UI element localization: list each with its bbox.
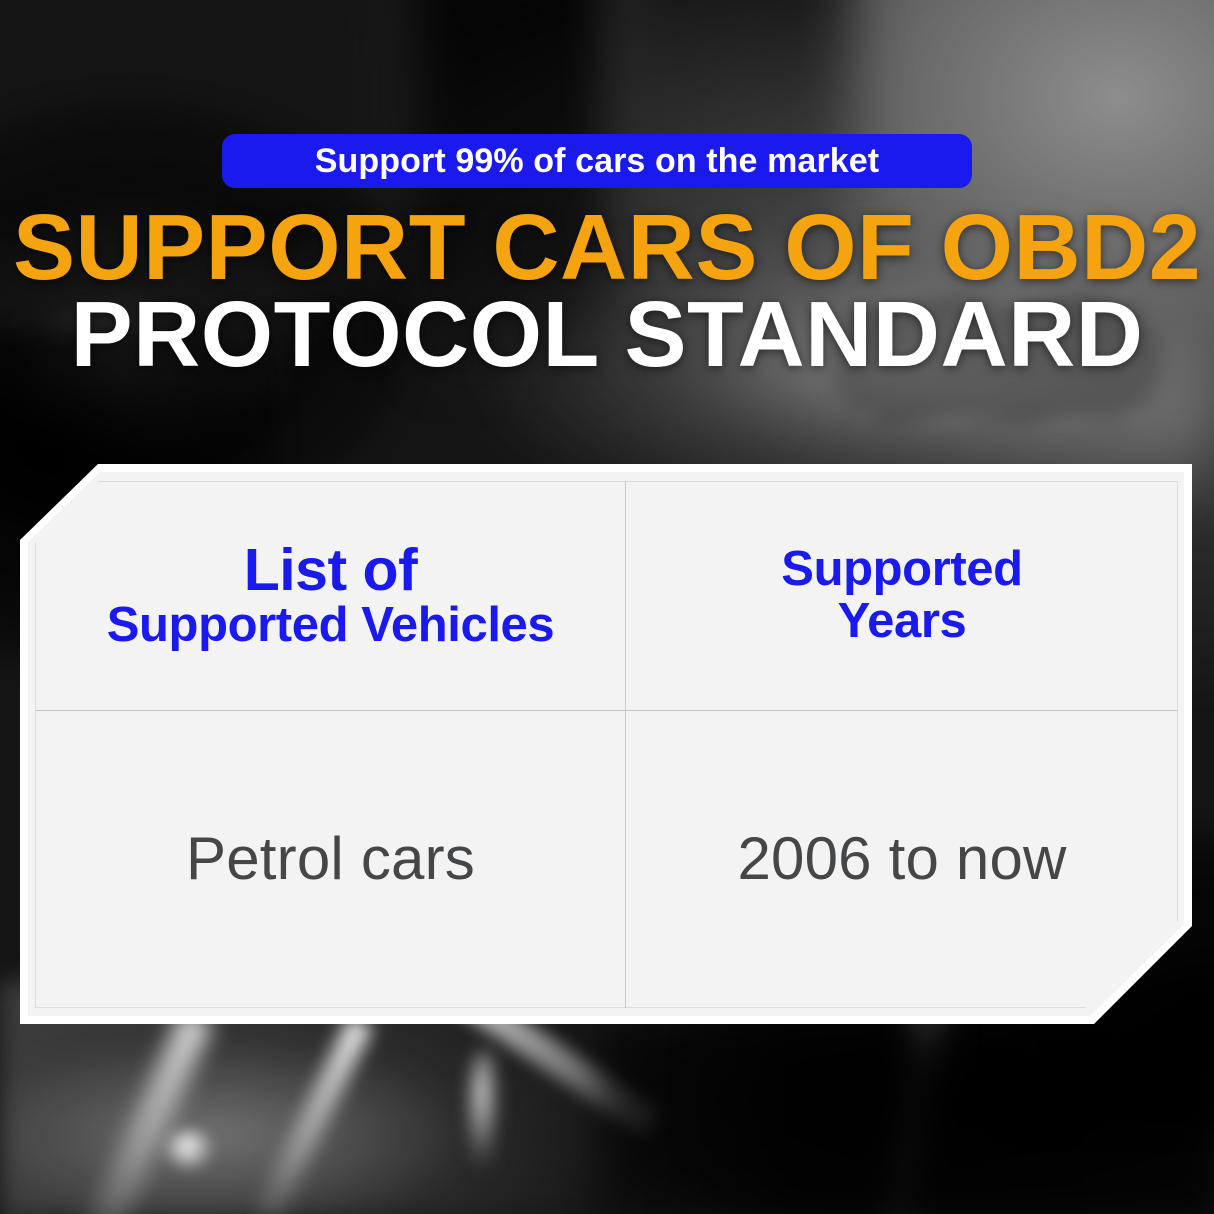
- table-header-years-line-1: Supported: [781, 544, 1022, 596]
- support-badge: Support 99% of cars on the market: [222, 134, 972, 188]
- table-cell-vehicles: Petrol cars: [186, 826, 475, 892]
- table-header-vehicles: List of Supported Vehicles: [36, 482, 625, 710]
- headline-line-1: SUPPORT CARS OF OBD2: [0, 204, 1214, 291]
- table-header-vehicles-line-1: List of: [244, 540, 417, 600]
- table-row: 2006 to now: [626, 711, 1178, 1007]
- table-header-years-line-2: Years: [838, 596, 967, 648]
- headline-line-2: PROTOCOL STANDARD: [0, 291, 1214, 378]
- table-header-vehicles-line-2: Supported Vehicles: [107, 600, 555, 652]
- table-header-years: Supported Years: [626, 482, 1178, 710]
- table-cell-years: 2006 to now: [737, 826, 1066, 892]
- page-title: SUPPORT CARS OF OBD2 PROTOCOL STANDARD: [0, 204, 1214, 379]
- table-row: Petrol cars: [36, 711, 625, 1007]
- promo-banner: Support 99% of cars on the market SUPPOR…: [0, 0, 1214, 1214]
